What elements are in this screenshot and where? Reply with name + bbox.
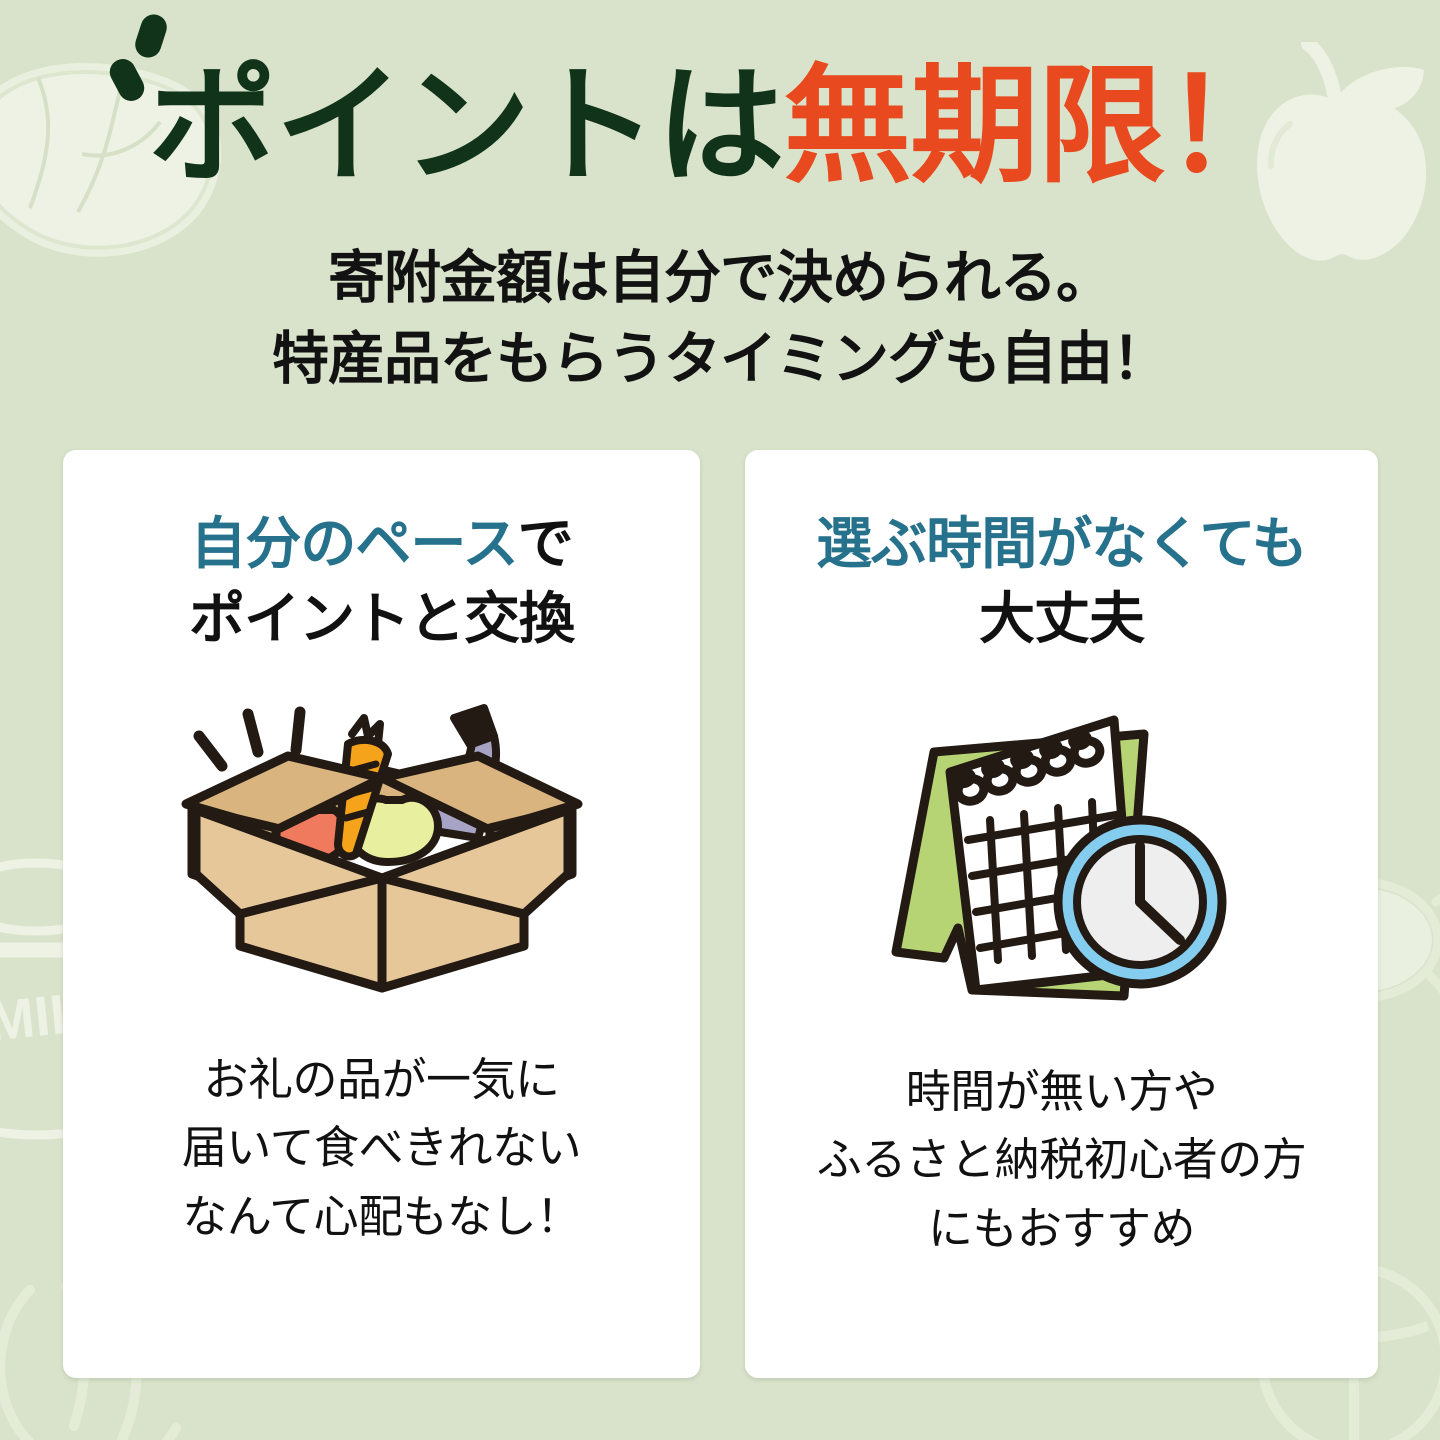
- card-1-heading-line-2: ポイントと交換: [189, 581, 574, 656]
- card-2-body-line-2: ふるさと納税初心者の方: [817, 1126, 1307, 1194]
- feature-card-self-pace: 自分のペースで ポイントと交換: [63, 450, 700, 1378]
- card-1-heading-line-1: 自分のペースで: [189, 506, 574, 581]
- subtitle-line-1: 寄附金額は自分で決められる。: [0, 238, 1440, 319]
- card-1-body-line-1: お礼の品が一気に: [182, 1046, 581, 1114]
- card-1-heading-teal: 自分のペース: [190, 512, 517, 575]
- card-2-heading: 選ぶ時間がなくても 大丈夫: [816, 506, 1307, 656]
- subtitle-line-2: 特産品をもらうタイミングも自由！: [0, 319, 1440, 400]
- card-2-heading-line-2: 大丈夫: [816, 581, 1307, 656]
- card-1-body: お礼の品が一気に 届いて食べきれない なんて心配もなし！: [182, 1046, 581, 1251]
- subtitle: 寄附金額は自分で決められる。 特産品をもらうタイミングも自由！: [0, 238, 1440, 400]
- headline-segment-green: ポイントは: [148, 55, 783, 198]
- card-1-body-line-3: なんて心配もなし！: [182, 1183, 581, 1251]
- promo-graphic-root: MILK: [0, 0, 1440, 1440]
- feature-card-no-time: 選ぶ時間がなくても 大丈夫: [745, 450, 1378, 1378]
- calendar-clock-illustration: [872, 690, 1252, 1010]
- gift-box-illustration: [172, 678, 592, 1008]
- card-2-body-line-1: 時間が無い方や: [817, 1058, 1307, 1126]
- card-1-heading-suffix: で: [518, 512, 573, 575]
- headline: ポイントは無期限！: [0, 58, 1440, 196]
- card-1-heading: 自分のペースで ポイントと交換: [189, 506, 574, 656]
- card-2-body: 時間が無い方や ふるさと納税初心者の方 にもおすすめ: [817, 1058, 1307, 1263]
- card-1-body-line-2: 届いて食べきれない: [182, 1114, 581, 1182]
- card-2-body-line-3: にもおすすめ: [817, 1195, 1307, 1263]
- card-2-heading-line-1: 選ぶ時間がなくても: [816, 506, 1307, 581]
- analog-clock: [1058, 820, 1222, 984]
- headline-segment-orange: 無期限！: [784, 55, 1292, 198]
